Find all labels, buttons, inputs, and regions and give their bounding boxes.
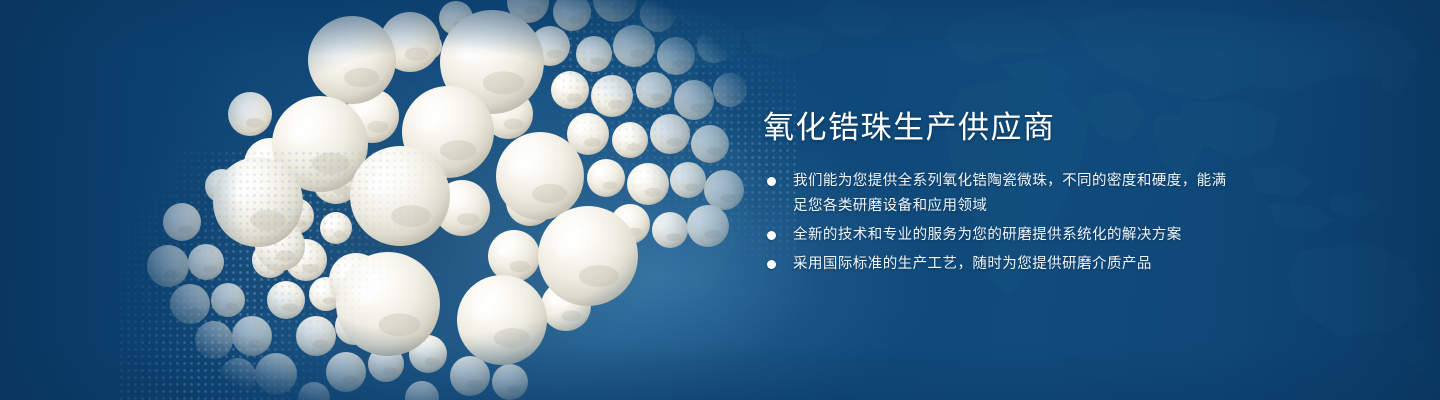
list-item: 我们能为您提供全系列氧化锆陶瓷微珠，不同的密度和硬度，能满足您各类研磨设备和应用…: [763, 169, 1233, 219]
bullet-dot-icon: [767, 260, 776, 269]
bullet-dot-icon: [767, 231, 776, 240]
feature-list: 我们能为您提供全系列氧化锆陶瓷微珠，不同的密度和硬度，能满足您各类研磨设备和应用…: [763, 169, 1233, 277]
list-item: 采用国际标准的生产工艺，随时为您提供研磨介质产品: [763, 252, 1233, 277]
halftone-fade-left: [118, 150, 548, 400]
list-item-label: 采用国际标准的生产工艺，随时为您提供研磨介质产品: [793, 256, 1152, 272]
bullet-dot-icon: [767, 177, 776, 186]
list-item-label: 我们能为您提供全系列氧化锆陶瓷微珠，不同的密度和硬度，能满足您各类研磨设备和应用…: [793, 173, 1227, 214]
list-item-label: 全新的技术和专业的服务为您的研磨提供系统化的解决方案: [793, 227, 1182, 243]
zirconia-beads-icon: [110, 0, 750, 400]
hero-banner: 氧化锆珠生产供应商 我们能为您提供全系列氧化锆陶瓷微珠，不同的密度和硬度，能满足…: [0, 0, 1440, 400]
banner-copy: 氧化锆珠生产供应商 我们能为您提供全系列氧化锆陶瓷微珠，不同的密度和硬度，能满足…: [763, 108, 1233, 277]
list-item: 全新的技术和专业的服务为您的研磨提供系统化的解决方案: [763, 223, 1233, 248]
page-title: 氧化锆珠生产供应商: [763, 108, 1233, 148]
